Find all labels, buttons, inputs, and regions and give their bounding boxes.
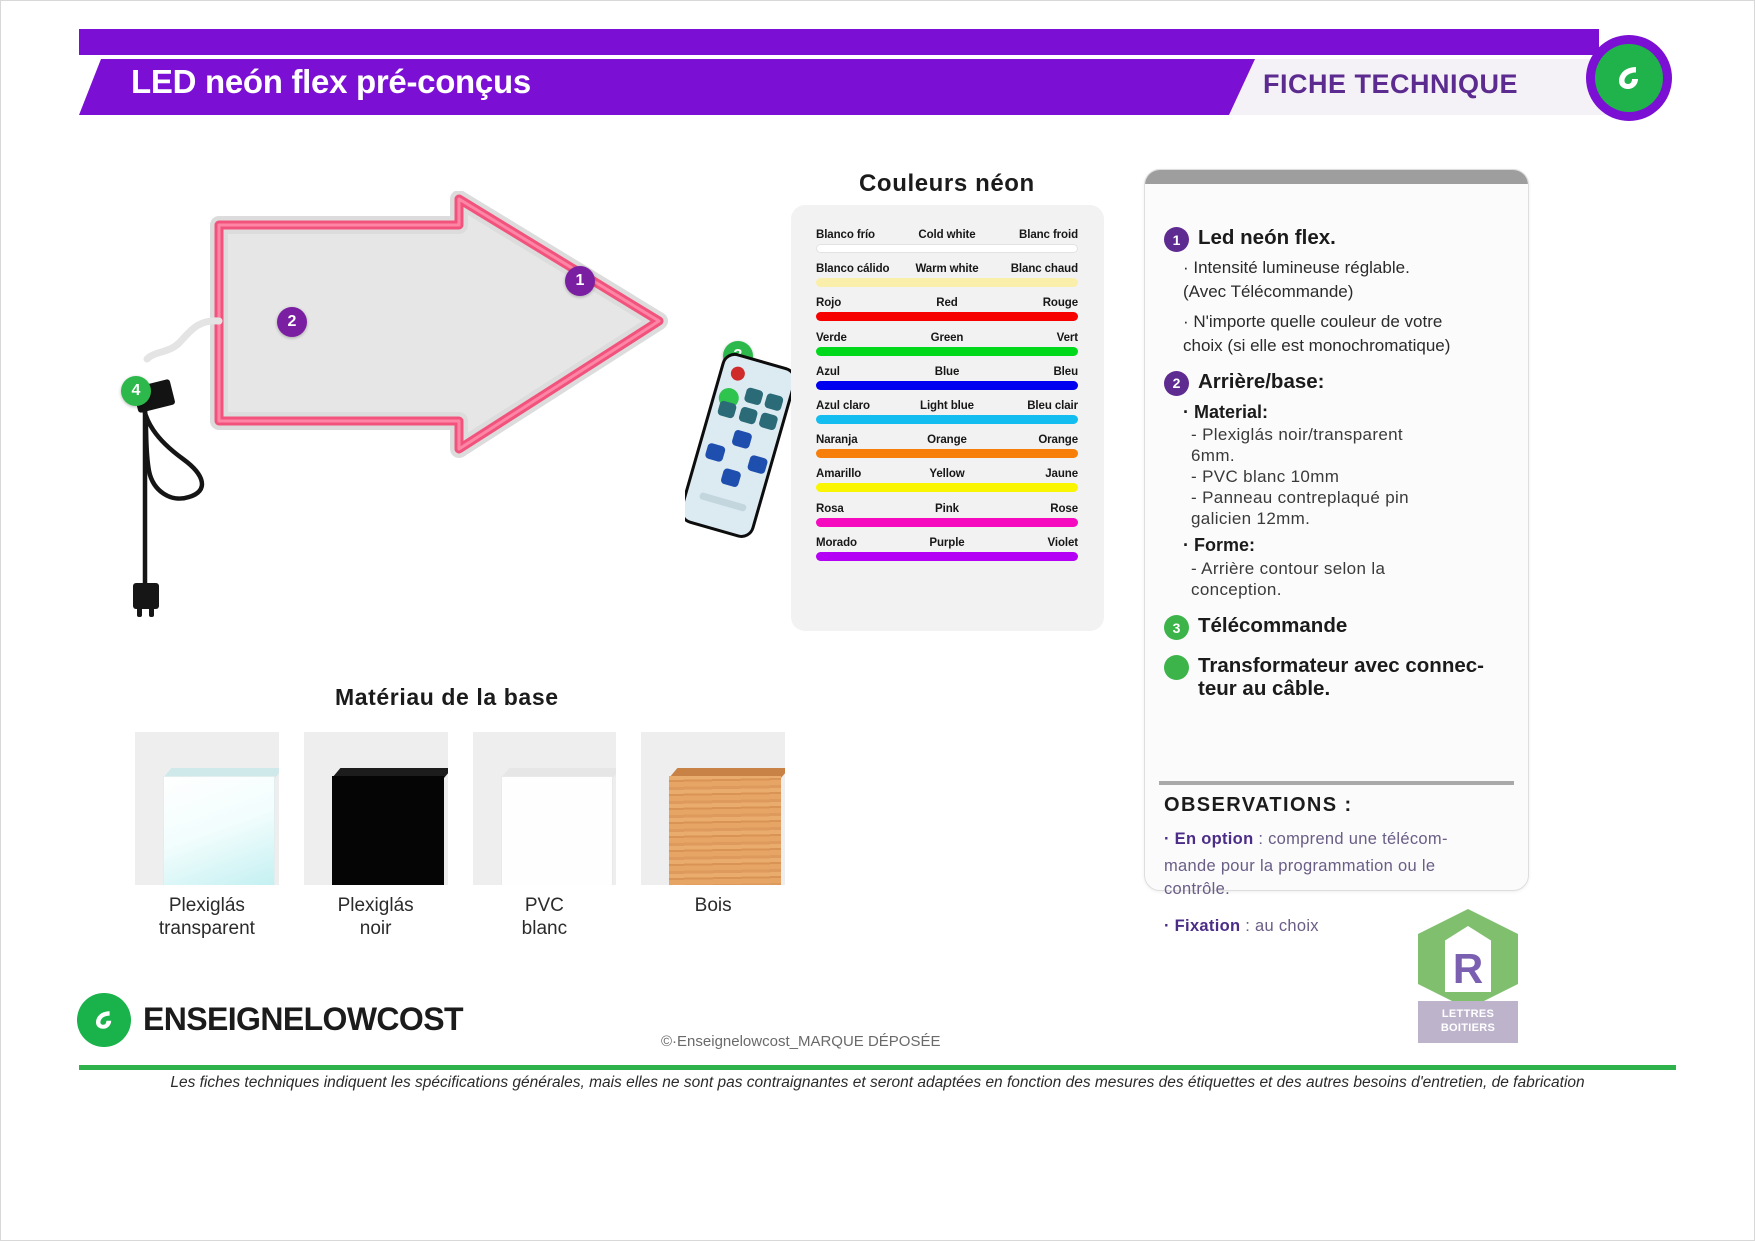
- panel-top-accent: [1145, 170, 1528, 184]
- color-row-names: RosaPinkRose: [816, 503, 1078, 515]
- color-swatch: [816, 244, 1078, 253]
- material-label: Bois: [641, 894, 785, 954]
- spec-title-4-line2: teur au câble.: [1198, 677, 1484, 700]
- color-name-en: Blue: [935, 366, 960, 378]
- lettres-boitiers-caption: LETTRES BOITIERS: [1418, 1001, 1518, 1043]
- material-label-line2: transparent: [135, 917, 279, 940]
- material-label-line2: blanc: [473, 917, 617, 940]
- materials-sample-row: [135, 732, 785, 887]
- color-swatch: [816, 449, 1078, 458]
- material-label-line2: noir: [304, 917, 448, 940]
- color-name-es: Blanco frío: [816, 229, 875, 241]
- spec-title-4: Transformateur avec connec-: [1198, 654, 1484, 677]
- observation-1-rest: : comprend une télécom-: [1253, 830, 1447, 848]
- color-name-es: Rojo: [816, 297, 841, 309]
- spec-2-material-line-4: - Panneau contreplaqué pin: [1191, 488, 1514, 508]
- color-row-names: RojoRedRouge: [816, 297, 1078, 309]
- remote-control-image: [685, 351, 795, 541]
- copyright-text: ©·Enseignelowcost_MARQUE DÉPOSÉE: [661, 1033, 941, 1050]
- leaf-logo-icon: [1595, 44, 1663, 112]
- color-name-es: Amarillo: [816, 468, 861, 480]
- color-row: NaranjaOrangeOrange: [816, 434, 1078, 458]
- color-name-es: Naranja: [816, 434, 858, 446]
- materials-label-row: PlexiglástransparentPlexiglásnoirPVCblan…: [135, 894, 785, 954]
- color-name-fr: Jaune: [1045, 468, 1078, 480]
- color-name-es: Azul claro: [816, 400, 870, 412]
- material-sample: [473, 732, 617, 885]
- color-swatch: [816, 483, 1078, 492]
- color-name-es: Rosa: [816, 503, 844, 515]
- spec-item-4: Transformateur avec connec- teur au câbl…: [1164, 654, 1514, 701]
- disclaimer-text: Les fiches techniques indiquent les spéc…: [79, 1074, 1676, 1092]
- color-name-en: Red: [936, 297, 957, 309]
- material-plate-face: [501, 776, 613, 885]
- spec-item-3: 3 Télécommande: [1164, 614, 1514, 640]
- callout-marker-1: 1: [565, 266, 595, 296]
- color-name-fr: Bleu: [1053, 366, 1078, 378]
- lettres-boitiers-badge-inner: R: [1445, 926, 1491, 992]
- spec-1-line-1: · Intensité lumineuse réglable.: [1183, 258, 1514, 278]
- spec-item-2-head: 2 Arrière/base:: [1164, 370, 1514, 396]
- callout-marker-4: 4: [121, 376, 151, 406]
- color-name-fr: Violet: [1047, 537, 1078, 549]
- observation-line-1: · En option : comprend une télécom-: [1164, 829, 1514, 850]
- color-row: RosaPinkRose: [816, 503, 1078, 527]
- spec-2-material-line-5: galicien 12mm.: [1191, 509, 1514, 529]
- spec-item-1-head: 1 Led neón flex.: [1164, 226, 1514, 252]
- brand-name: ENSEIGNELOWCOST: [143, 1001, 463, 1038]
- brand-logo-icon: [77, 993, 131, 1047]
- color-row: Azul claroLight blueBleu clair: [816, 400, 1078, 424]
- neon-arrow-illustration: [131, 191, 751, 691]
- colors-section-title: Couleurs néon: [859, 170, 1035, 198]
- fiche-technique-page: LED neón flex pré-conçus FICHE TECHNIQUE: [0, 0, 1755, 1241]
- color-row: Blanco fríoCold whiteBlanc froid: [816, 229, 1078, 253]
- color-row: MoradoPurpleViolet: [816, 537, 1078, 561]
- observation-4-rest: : au choix: [1240, 917, 1319, 935]
- color-name-en: Light blue: [920, 400, 974, 412]
- page-title: LED neón flex pré-conçus: [131, 63, 531, 101]
- colors-list: Blanco fríoCold whiteBlanc froidBlanco c…: [816, 229, 1078, 571]
- color-swatch: [816, 518, 1078, 527]
- spec-1-line-2: (Avec Télécommande): [1183, 282, 1514, 302]
- spec-bullet-3: 3: [1164, 615, 1189, 640]
- color-row: AzulBlueBleu: [816, 366, 1078, 390]
- observation-line-3: contrôle.: [1164, 879, 1514, 900]
- color-row-names: MoradoPurpleViolet: [816, 537, 1078, 549]
- material-label-line1: PVC: [473, 894, 617, 917]
- color-name-fr: Orange: [1038, 434, 1078, 446]
- color-row-names: Blanco fríoCold whiteBlanc froid: [816, 229, 1078, 241]
- color-row: RojoRedRouge: [816, 297, 1078, 321]
- spec-2-forme-label: · Forme:: [1183, 535, 1514, 557]
- specifications-list: 1 Led neón flex. · Intensité lumineuse r…: [1164, 226, 1514, 707]
- callout-marker-2: 2: [277, 307, 307, 337]
- color-name-fr: Blanc chaud: [1011, 263, 1078, 275]
- spec-title-3: Télécommande: [1198, 614, 1347, 637]
- spec-bullet-1: 1: [1164, 227, 1189, 252]
- color-row-names: Azul claroLight blueBleu clair: [816, 400, 1078, 412]
- material-plate-face: [669, 776, 781, 885]
- material-label-line1: Bois: [641, 894, 785, 917]
- header-accent-band: [79, 29, 1599, 55]
- materials-section-title: Matériau de la base: [335, 684, 559, 711]
- material-label-line1: Plexiglás: [135, 894, 279, 917]
- spec-2-forme-line-1: - Arrière contour selon la: [1191, 559, 1514, 579]
- color-swatch: [816, 278, 1078, 287]
- observation-1-bold: · En option: [1164, 830, 1253, 848]
- spec-title-2: Arrière/base:: [1198, 370, 1324, 393]
- observations-heading: OBSERVATIONS :: [1164, 794, 1353, 817]
- color-swatch: [816, 312, 1078, 321]
- spec-2-material-line-3: - PVC blanc 10mm: [1191, 467, 1514, 487]
- material-plate: [163, 768, 279, 885]
- observation-4-bold: · Fixation: [1164, 917, 1240, 935]
- spec-2-forme-line-2: conception.: [1191, 580, 1514, 600]
- material-sample: [304, 732, 448, 885]
- spec-1-line-4: choix (si elle est monochromatique): [1183, 336, 1514, 356]
- color-name-en: Yellow: [929, 468, 964, 480]
- material-label: Plexiglástransparent: [135, 894, 279, 954]
- color-swatch: [816, 415, 1078, 424]
- spec-title-1: Led neón flex.: [1198, 226, 1336, 249]
- color-name-en: Cold white: [918, 229, 975, 241]
- color-row-names: Blanco cálidoWarm whiteBlanc chaud: [816, 263, 1078, 275]
- footer-rule: [79, 1065, 1676, 1070]
- material-sample: [641, 732, 785, 885]
- color-name-es: Azul: [816, 366, 840, 378]
- material-plate-face: [332, 776, 444, 885]
- color-swatch: [816, 381, 1078, 390]
- color-row-names: AmarilloYellowJaune: [816, 468, 1078, 480]
- color-name-fr: Blanc froid: [1019, 229, 1078, 241]
- material-label: PVCblanc: [473, 894, 617, 954]
- color-name-en: Green: [931, 332, 964, 344]
- color-name-es: Morado: [816, 537, 857, 549]
- spec-bullet-4: [1164, 655, 1189, 680]
- lettres-boitiers-caption-line1: LETTRES: [1442, 1008, 1494, 1022]
- color-name-en: Orange: [927, 434, 967, 446]
- color-swatch: [816, 552, 1078, 561]
- spec-item-4-head: Transformateur avec connec- teur au câbl…: [1164, 654, 1514, 701]
- observations-divider: [1159, 781, 1514, 785]
- color-row-names: NaranjaOrangeOrange: [816, 434, 1078, 446]
- lettres-boitiers-caption-line2: BOITIERS: [1441, 1022, 1495, 1036]
- color-row-names: AzulBlueBleu: [816, 366, 1078, 378]
- lettres-boitiers-letter: R: [1453, 948, 1483, 990]
- spec-item-1: 1 Led neón flex. · Intensité lumineuse r…: [1164, 226, 1514, 356]
- observation-line-2: mande pour la programmation ou le: [1164, 856, 1514, 877]
- color-name-fr: Bleu clair: [1027, 400, 1078, 412]
- sheet-type-label: FICHE TECHNIQUE: [1263, 69, 1518, 100]
- color-name-fr: Rouge: [1043, 297, 1078, 309]
- color-row: AmarilloYellowJaune: [816, 468, 1078, 492]
- material-plate: [332, 768, 448, 885]
- spec-item-3-head: 3 Télécommande: [1164, 614, 1514, 640]
- material-plate: [501, 768, 617, 885]
- color-name-en: Pink: [935, 503, 959, 515]
- material-plate: [669, 768, 785, 885]
- material-label-line1: Plexiglás: [304, 894, 448, 917]
- color-name-en: Warm white: [915, 263, 978, 275]
- color-name-es: Verde: [816, 332, 847, 344]
- spec-item-2: 2 Arrière/base: · Material: - Plexiglás …: [1164, 370, 1514, 601]
- color-name-es: Blanco cálido: [816, 263, 889, 275]
- spec-2-material-line-2: 6mm.: [1191, 446, 1514, 466]
- material-label: Plexiglásnoir: [304, 894, 448, 954]
- color-row-names: VerdeGreenVert: [816, 332, 1078, 344]
- spec-2-material-label: · Material:: [1183, 402, 1514, 424]
- color-swatch: [816, 347, 1078, 356]
- color-row: VerdeGreenVert: [816, 332, 1078, 356]
- color-name-en: Purple: [929, 537, 964, 549]
- spec-bullet-2: 2: [1164, 371, 1189, 396]
- spec-2-material-line-1: - Plexiglás noir/transparent: [1191, 425, 1514, 445]
- color-name-fr: Vert: [1057, 332, 1078, 344]
- color-name-fr: Rose: [1050, 503, 1078, 515]
- color-row: Blanco cálidoWarm whiteBlanc chaud: [816, 263, 1078, 287]
- spec-1-line-3: · N'importe quelle couleur de votre: [1183, 312, 1514, 332]
- material-plate-face: [163, 776, 275, 885]
- material-sample: [135, 732, 279, 885]
